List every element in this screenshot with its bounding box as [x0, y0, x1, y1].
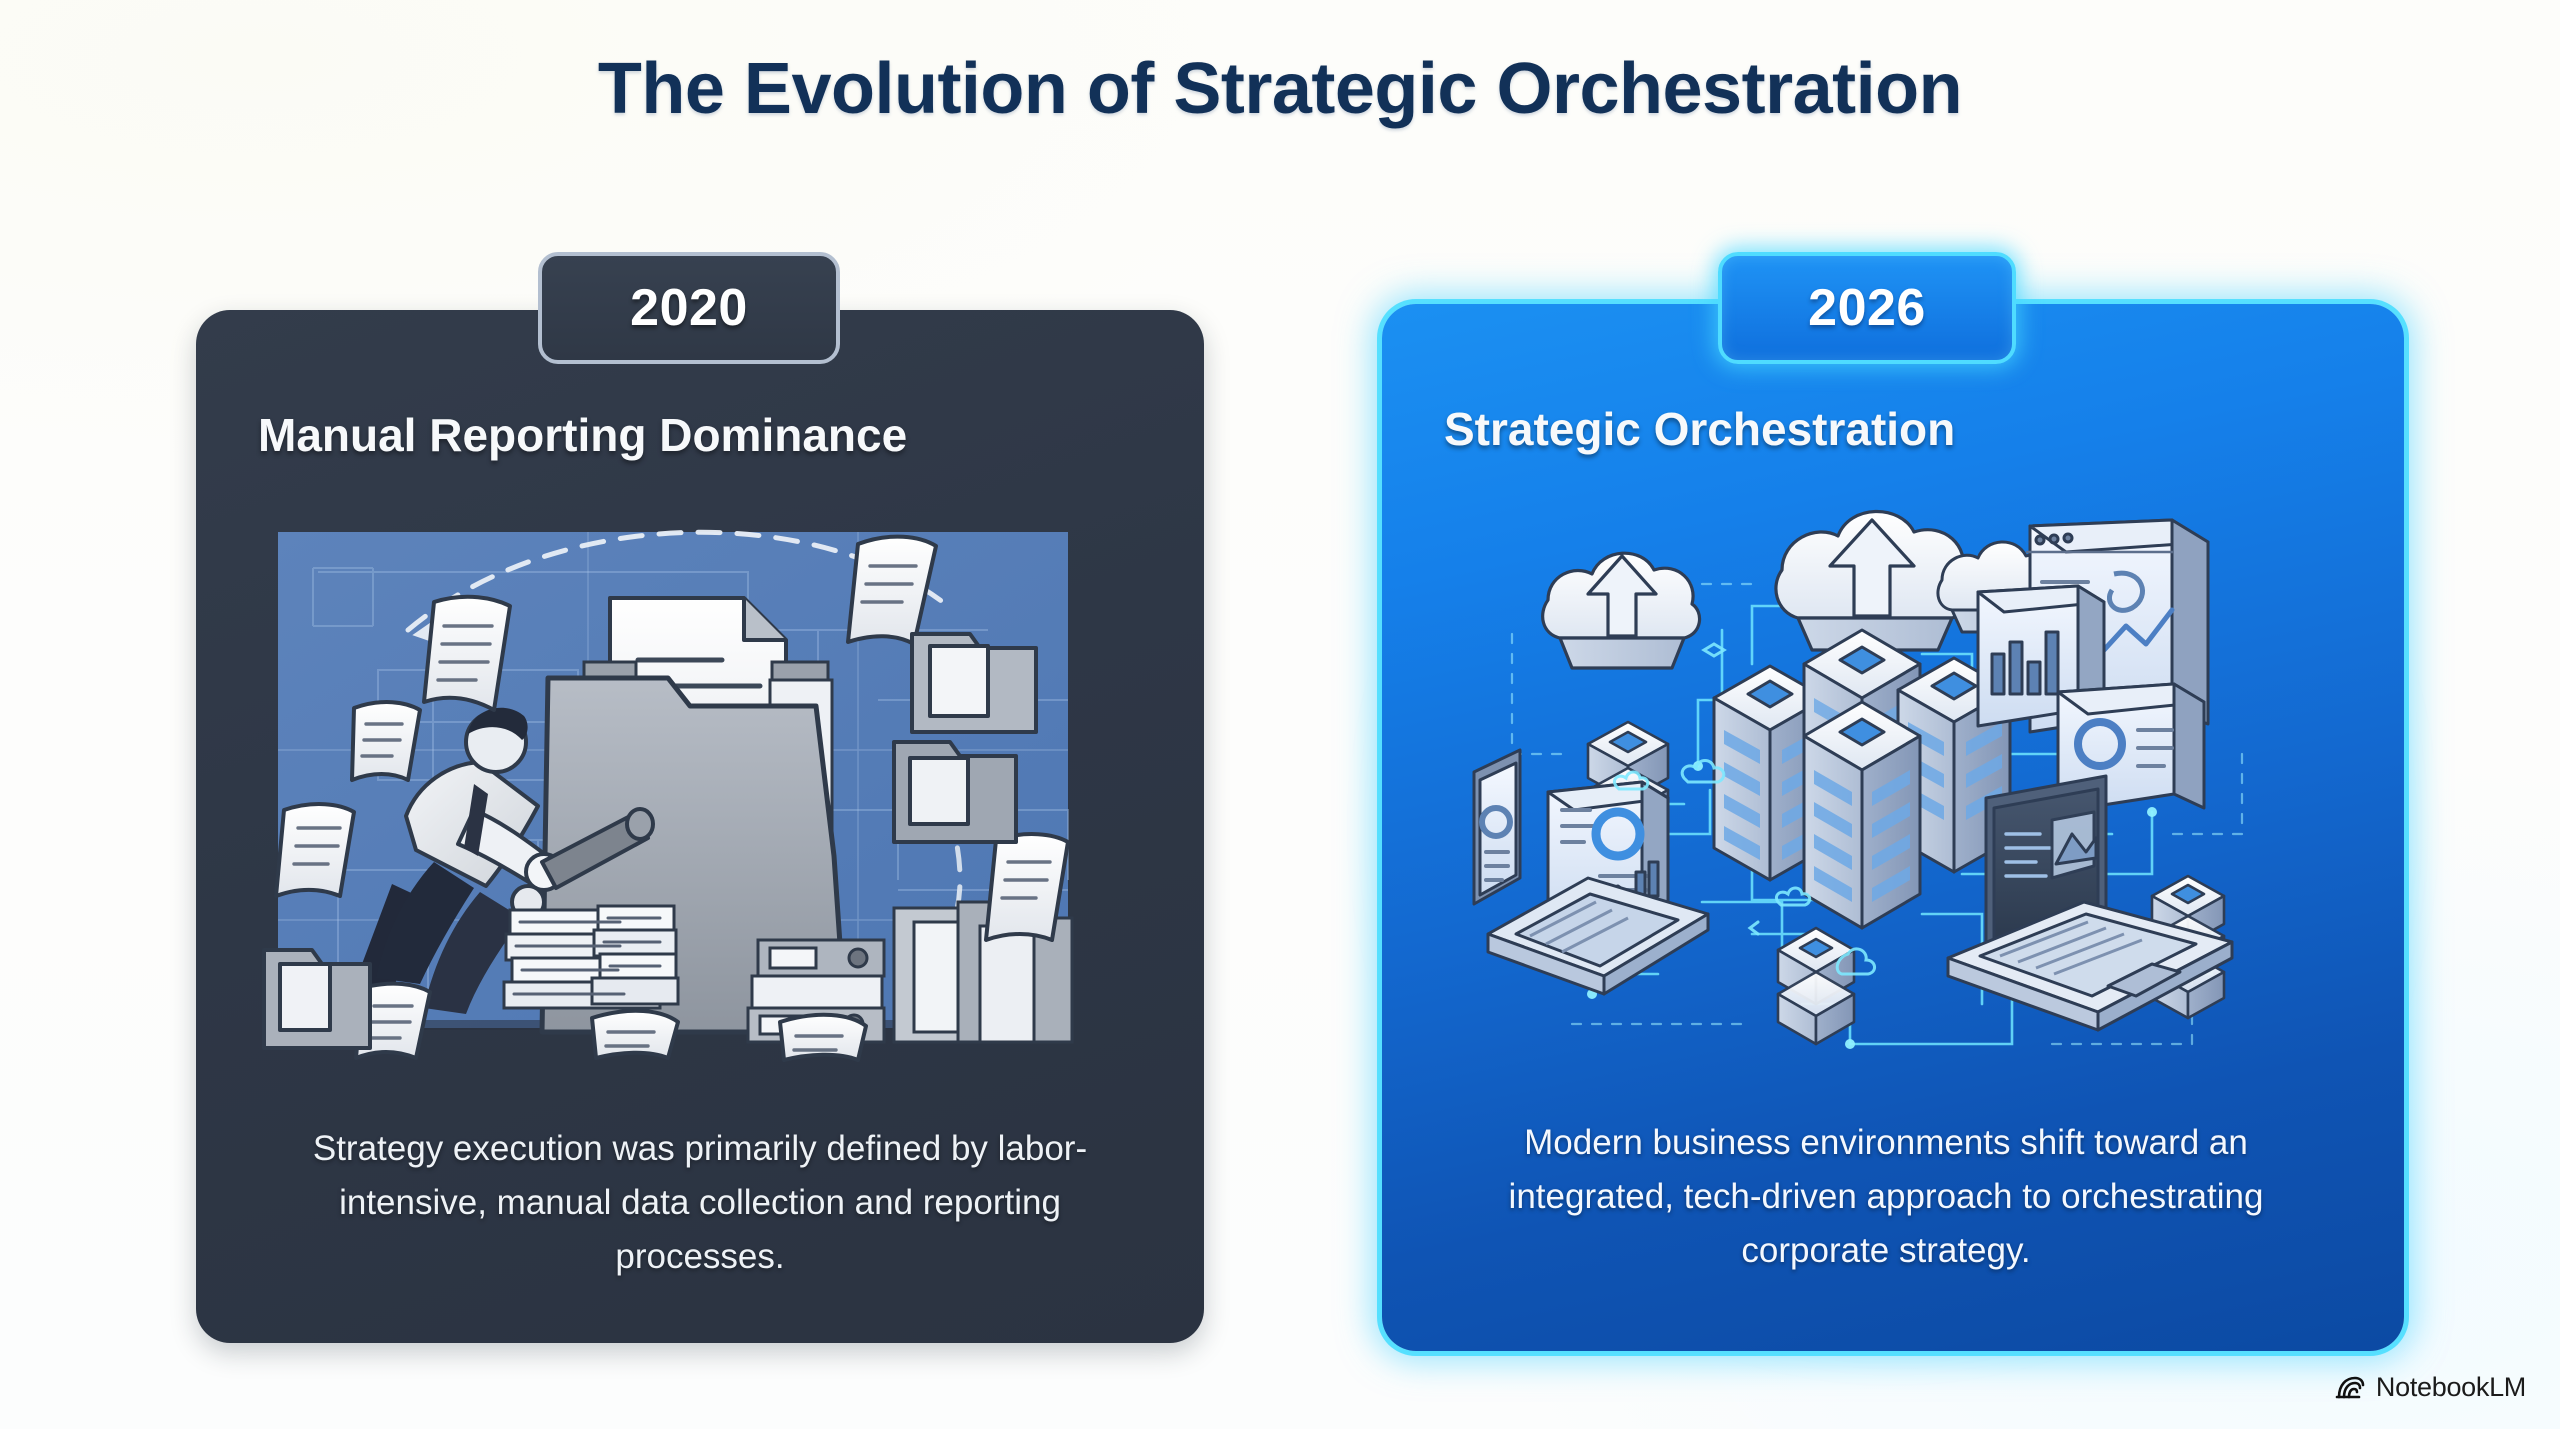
- timeline-card-past[interactable]: Manual Reporting Dominance: [196, 310, 1204, 1343]
- card-heading-past: Manual Reporting Dominance: [258, 408, 907, 462]
- timeline-card-future[interactable]: Strategic Orchestration: [1382, 304, 2404, 1351]
- card-caption-future: Modern business environments shift towar…: [1438, 1116, 2334, 1278]
- manual-paperwork-illustration: [258, 510, 1142, 1070]
- card-heading-future: Strategic Orchestration: [1444, 402, 1955, 456]
- isometric-cloud-network-illustration: [1452, 504, 2332, 1064]
- notebooklm-label: NotebookLM: [2376, 1372, 2526, 1403]
- page-title: The Evolution of Strategic Orchestration: [0, 48, 2560, 130]
- notebooklm-spiral-icon: [2335, 1375, 2365, 1401]
- notebooklm-watermark: NotebookLM: [2335, 1372, 2526, 1403]
- year-badge-2026[interactable]: 2026: [1718, 252, 2016, 364]
- card-caption-past: Strategy execution was primarily defined…: [252, 1122, 1148, 1284]
- year-badge-2020[interactable]: 2020: [538, 252, 840, 364]
